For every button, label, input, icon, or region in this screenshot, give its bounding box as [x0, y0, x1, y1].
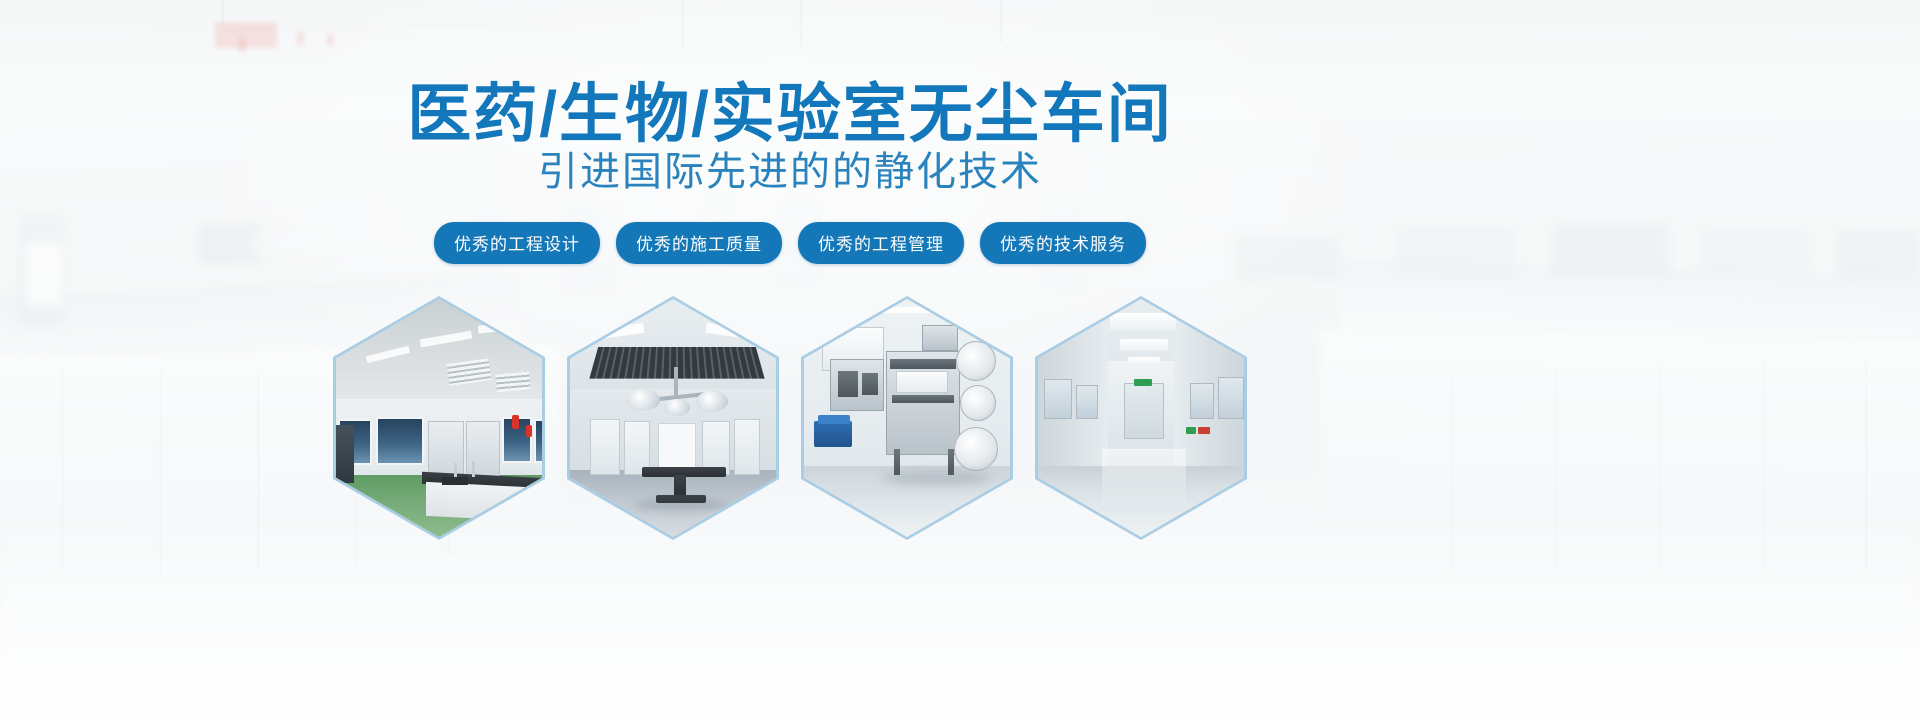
ceiling-light-strip — [1110, 313, 1176, 331]
hero-banner: 医药/生物/实验室无尘车间 引进国际先进的的静化技术 优秀的工程设计 优秀的施工… — [0, 0, 1920, 720]
hexagon-clip — [570, 299, 776, 537]
floor-reflection — [1102, 449, 1186, 509]
banner-subtitle: 引进国际先进的的静化技术 — [0, 152, 1580, 192]
window — [534, 419, 542, 463]
feature-pill-technical-service[interactable]: 优秀的技术服务 — [980, 222, 1146, 264]
hexagon-image-laboratory-room[interactable] — [333, 296, 545, 540]
corridor-window — [1044, 379, 1072, 419]
machine-frame — [892, 395, 954, 403]
blue-crate — [818, 415, 850, 424]
scene-cleanroom-corridor — [1038, 299, 1244, 537]
blue-crate — [814, 421, 852, 447]
feature-pill-construction-quality[interactable]: 优秀的施工质量 — [616, 222, 782, 264]
film-roll — [960, 385, 996, 421]
hexagon-gallery — [0, 296, 1580, 540]
surgical-light-head — [626, 389, 660, 411]
scene-operating-theatre — [570, 299, 776, 537]
ceiling-light-strip — [1120, 339, 1168, 351]
window — [376, 417, 424, 465]
feature-pill-engineering-design[interactable]: 优秀的工程设计 — [434, 222, 600, 264]
floor-shadow — [634, 499, 730, 511]
scene-packaging-machinery — [804, 299, 1010, 537]
status-indicator — [1186, 427, 1196, 434]
scene-laboratory-room — [336, 299, 542, 537]
corridor-window — [1218, 377, 1244, 419]
surgical-light-head — [664, 399, 690, 416]
feature-pill-list: 优秀的工程设计 优秀的施工质量 优秀的工程管理 优秀的技术服务 — [0, 222, 1580, 264]
surgical-light-arm — [674, 367, 678, 397]
hexagon-image-cleanroom-corridor[interactable] — [1035, 296, 1247, 540]
equipment-rack — [336, 425, 354, 483]
wall-panel — [658, 423, 696, 471]
machine-frame — [890, 359, 956, 369]
corridor-window — [1190, 383, 1214, 419]
hexagon-clip — [336, 299, 542, 537]
reagent-bottle — [512, 415, 519, 429]
faucet — [454, 463, 457, 477]
control-box — [922, 325, 958, 351]
ceiling-light-strip — [1128, 357, 1160, 366]
banner-title: 医药/生物/实验室无尘车间 — [0, 82, 1580, 146]
film-roll — [956, 341, 996, 381]
door — [590, 419, 620, 475]
door-frame — [1124, 383, 1164, 439]
floor-shadow — [882, 471, 992, 485]
hexagon-image-packaging-machinery[interactable] — [801, 296, 1013, 540]
status-indicator — [1198, 427, 1210, 434]
machine-detail — [862, 373, 878, 395]
hexagon-clip — [804, 299, 1010, 537]
hexagon-clip — [1038, 299, 1244, 537]
ceiling-light — [478, 320, 529, 333]
corridor-window — [1076, 385, 1098, 419]
banner-content: 医药/生物/实验室无尘车间 引进国际先进的的静化技术 优秀的工程设计 优秀的施工… — [0, 0, 1920, 720]
machine-guard — [896, 371, 948, 393]
machine-detail — [838, 371, 858, 397]
faucet — [472, 461, 475, 477]
film-roll — [954, 427, 998, 471]
machine-leg — [894, 449, 900, 475]
cabinet — [428, 421, 464, 479]
operating-table-column — [674, 475, 686, 497]
reagent-bottle — [526, 425, 532, 437]
sink-basin — [442, 477, 468, 485]
ceiling-vent — [495, 372, 530, 393]
surgical-light-head — [696, 391, 728, 412]
hexagon-image-operating-theatre[interactable] — [567, 296, 779, 540]
exit-sign — [1134, 379, 1152, 386]
door — [734, 419, 760, 475]
feature-pill-project-management[interactable]: 优秀的工程管理 — [798, 222, 964, 264]
